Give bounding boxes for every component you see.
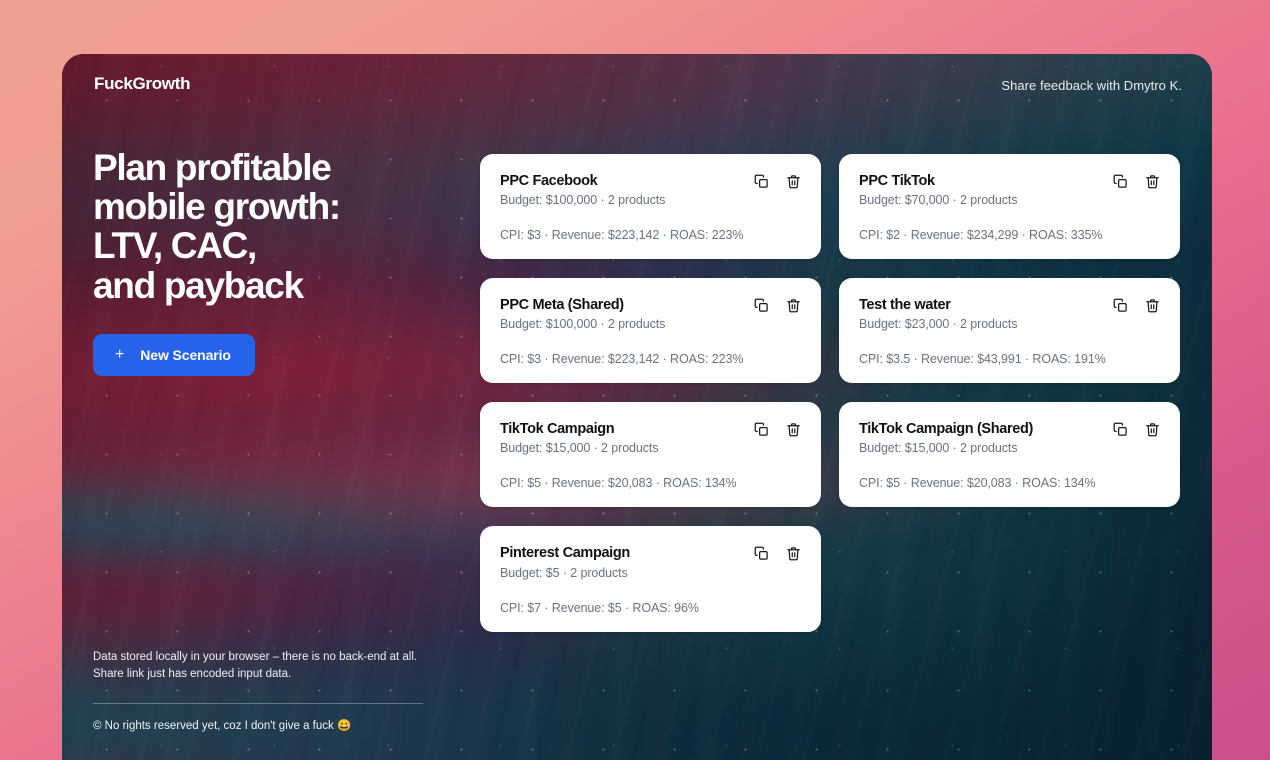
scenario-column-left: PPC FacebookBudget: $100,000 · 2 product…: [480, 154, 821, 632]
duplicate-icon[interactable]: [754, 546, 769, 561]
footer: Data stored locally in your browser – th…: [93, 649, 423, 736]
scenario-budget: Budget: $15,000 · 2 products: [859, 441, 1160, 455]
scenario-metrics: CPI: $5 · Revenue: $20,083 · ROAS: 134%: [859, 476, 1160, 490]
scenario-metrics: CPI: $5 · Revenue: $20,083 · ROAS: 134%: [500, 476, 801, 490]
scenario-title: Pinterest Campaign: [500, 544, 630, 562]
new-scenario-button[interactable]: + New Scenario: [93, 334, 255, 376]
scenario-title: PPC TikTok: [859, 172, 935, 190]
scenario-title: PPC Meta (Shared): [500, 296, 624, 314]
scenario-card-header: TikTok Campaign: [500, 420, 801, 438]
scenario-cards-area: PPC FacebookBudget: $100,000 · 2 product…: [480, 154, 1183, 632]
scenario-title: PPC Facebook: [500, 172, 597, 190]
footer-storage-note: Data stored locally in your browser – th…: [93, 649, 423, 685]
scenario-title: TikTok Campaign: [500, 420, 614, 438]
scenario-card-actions: [1113, 296, 1160, 313]
trash-icon[interactable]: [786, 422, 801, 437]
scenario-column-right: PPC TikTokBudget: $70,000 · 2 productsCP…: [839, 154, 1180, 632]
scenario-card[interactable]: PPC TikTokBudget: $70,000 · 2 productsCP…: [839, 154, 1180, 259]
trash-icon[interactable]: [786, 174, 801, 189]
scenario-card-header: PPC Meta (Shared): [500, 296, 801, 314]
duplicate-icon[interactable]: [754, 422, 769, 437]
scenario-card[interactable]: Test the waterBudget: $23,000 · 2 produc…: [839, 278, 1180, 383]
scenario-card-actions: [754, 544, 801, 561]
duplicate-icon[interactable]: [754, 174, 769, 189]
scenario-card-actions: [1113, 172, 1160, 189]
scenario-card-header: PPC Facebook: [500, 172, 801, 190]
scenario-card[interactable]: Pinterest CampaignBudget: $5 · 2 product…: [480, 526, 821, 631]
scenario-card-actions: [1113, 420, 1160, 437]
scenario-budget: Budget: $70,000 · 2 products: [859, 193, 1160, 207]
duplicate-icon[interactable]: [1113, 298, 1128, 313]
scenario-card-actions: [754, 296, 801, 313]
scenario-card[interactable]: PPC Meta (Shared)Budget: $100,000 · 2 pr…: [480, 278, 821, 383]
scenario-card[interactable]: PPC FacebookBudget: $100,000 · 2 product…: [480, 154, 821, 259]
duplicate-icon[interactable]: [1113, 174, 1128, 189]
scenario-card-header: Test the water: [859, 296, 1160, 314]
page-frame: FuckGrowth Share feedback with Dmytro K.…: [0, 0, 1270, 760]
scenario-card-header: Pinterest Campaign: [500, 544, 801, 562]
scenario-metrics: CPI: $7 · Revenue: $5 · ROAS: 96%: [500, 601, 801, 615]
app-panel: FuckGrowth Share feedback with Dmytro K.…: [62, 54, 1212, 760]
scenario-metrics: CPI: $3 · Revenue: $223,142 · ROAS: 223%: [500, 228, 801, 242]
trash-icon[interactable]: [1145, 174, 1160, 189]
hero-section: Plan profitable mobile growth: LTV, CAC,…: [93, 148, 483, 376]
scenario-metrics: CPI: $2 · Revenue: $234,299 · ROAS: 335%: [859, 228, 1160, 242]
scenario-budget: Budget: $5 · 2 products: [500, 566, 801, 580]
share-feedback-link[interactable]: Share feedback with Dmytro K.: [1001, 78, 1182, 93]
scenario-title: Test the water: [859, 296, 951, 314]
scenario-card-actions: [754, 420, 801, 437]
scenario-metrics: CPI: $3.5 · Revenue: $43,991 · ROAS: 191…: [859, 352, 1160, 366]
scenario-budget: Budget: $100,000 · 2 products: [500, 193, 801, 207]
app-brand-logo[interactable]: FuckGrowth: [94, 74, 190, 94]
scenario-budget: Budget: $23,000 · 2 products: [859, 317, 1160, 331]
trash-icon[interactable]: [1145, 298, 1160, 313]
scenario-card[interactable]: TikTok CampaignBudget: $15,000 · 2 produ…: [480, 402, 821, 507]
scenario-card-header: TikTok Campaign (Shared): [859, 420, 1160, 438]
trash-icon[interactable]: [786, 298, 801, 313]
scenario-metrics: CPI: $3 · Revenue: $223,142 · ROAS: 223%: [500, 352, 801, 366]
scenario-card[interactable]: TikTok Campaign (Shared)Budget: $15,000 …: [839, 402, 1180, 507]
trash-icon[interactable]: [786, 546, 801, 561]
footer-copyright: © No rights reserved yet, coz I don't gi…: [93, 718, 423, 736]
duplicate-icon[interactable]: [1113, 422, 1128, 437]
trash-icon[interactable]: [1145, 422, 1160, 437]
scenario-budget: Budget: $15,000 · 2 products: [500, 441, 801, 455]
scenario-budget: Budget: $100,000 · 2 products: [500, 317, 801, 331]
new-scenario-label: New Scenario: [140, 347, 231, 363]
plus-icon: +: [115, 347, 124, 363]
panel-content: FuckGrowth Share feedback with Dmytro K.…: [62, 54, 1212, 760]
scenario-title: TikTok Campaign (Shared): [859, 420, 1033, 438]
page-title: Plan profitable mobile growth: LTV, CAC,…: [93, 148, 483, 305]
duplicate-icon[interactable]: [754, 298, 769, 313]
scenario-card-header: PPC TikTok: [859, 172, 1160, 190]
footer-divider: [93, 703, 423, 704]
scenario-card-actions: [754, 172, 801, 189]
